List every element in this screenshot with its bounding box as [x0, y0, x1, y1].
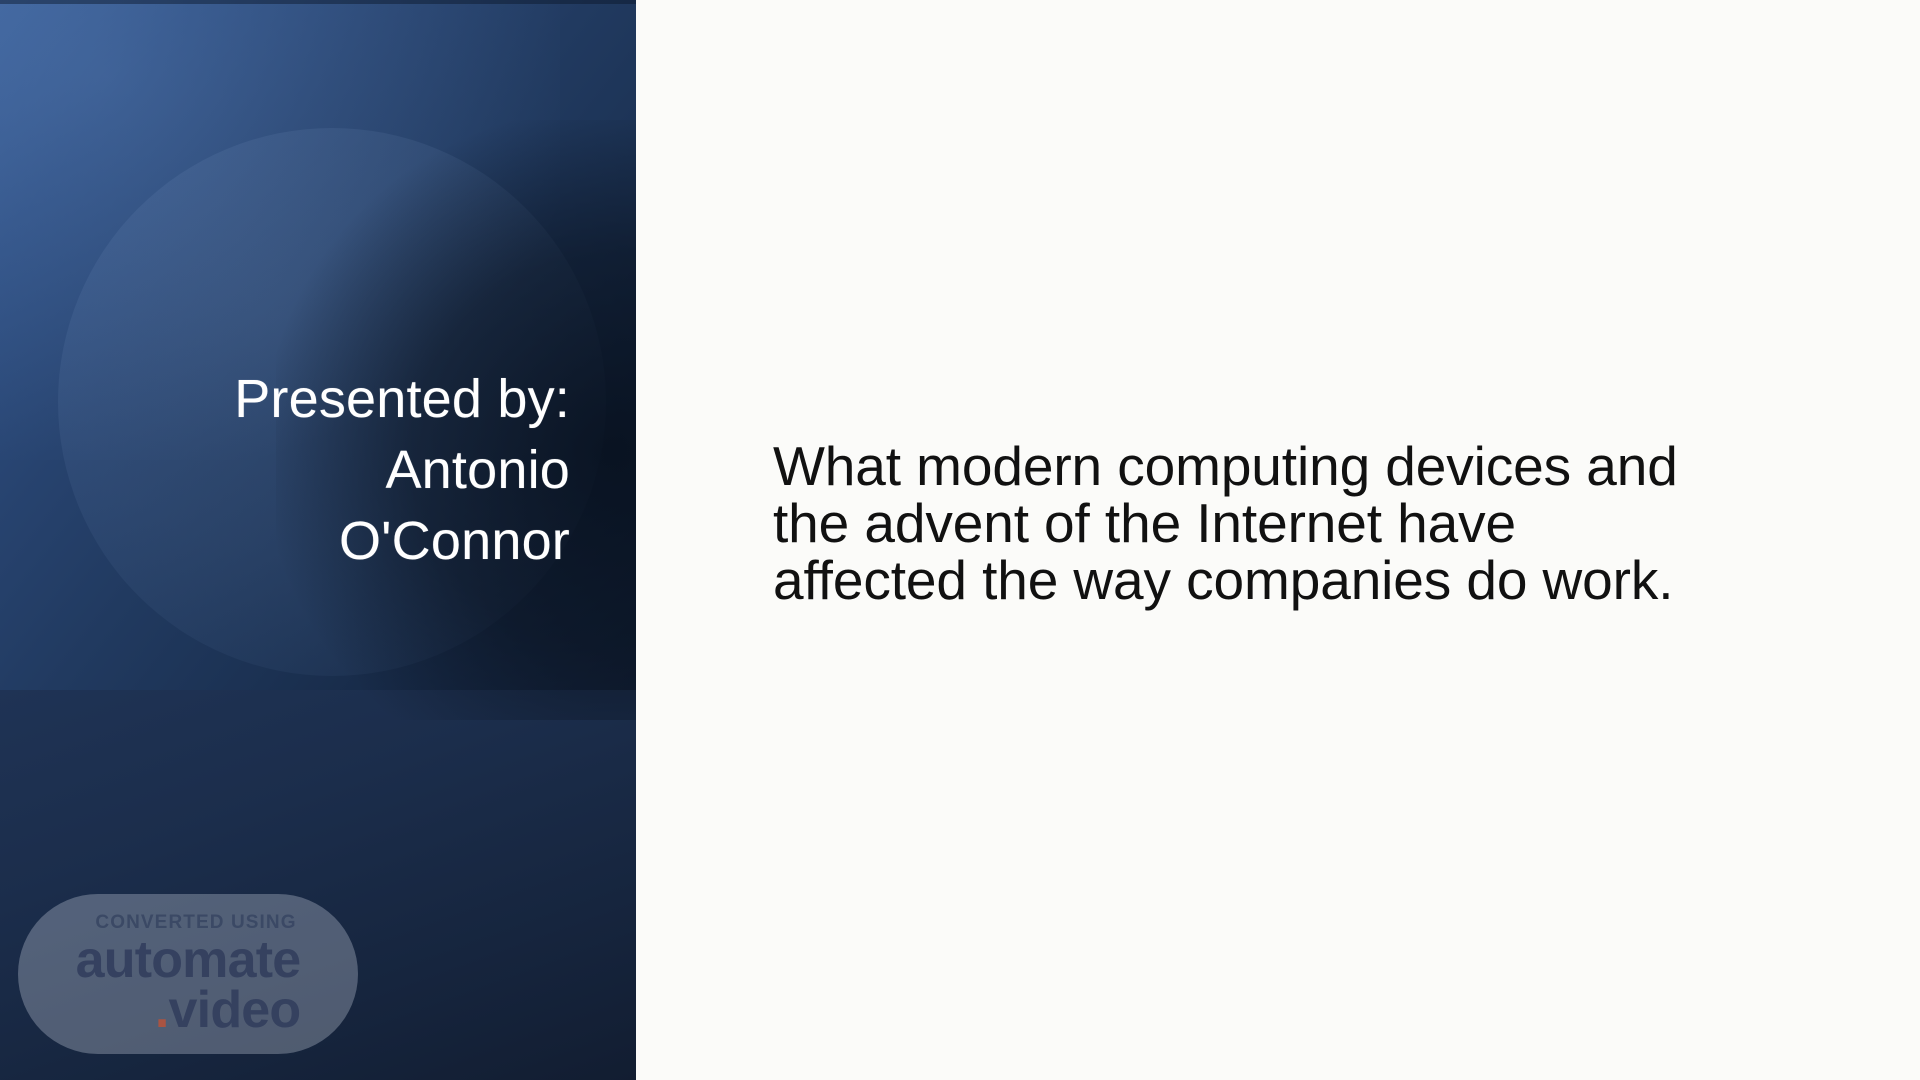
- watermark-brand-video: .video: [155, 987, 300, 1035]
- presenter-last-name: O'Connor: [40, 506, 570, 577]
- presenter-first-name: Antonio: [40, 435, 570, 506]
- watermark-brand-video-label: video: [169, 981, 301, 1039]
- presenter-label: Presented by:: [40, 364, 570, 435]
- automate-video-watermark-badge[interactable]: CONVERTED USING automate .video: [18, 894, 358, 1054]
- watermark-brand-dot: .: [155, 981, 169, 1039]
- left-title-panel: Presented by: Antonio O'Connor CONVERTED…: [0, 0, 636, 1080]
- presenter-credit: Presented by: Antonio O'Connor: [40, 364, 570, 577]
- presentation-slide: Presented by: Antonio O'Connor CONVERTED…: [0, 0, 1920, 1080]
- watermark-brand-automate: automate: [76, 937, 301, 985]
- body-line-3: affected the way companies do work.: [773, 552, 1793, 609]
- watermark-kicker-text: CONVERTED USING: [79, 913, 296, 932]
- panel-top-edge-strip: [0, 0, 636, 4]
- body-line-2: the advent of the Internet have: [773, 495, 1793, 552]
- right-content-panel: What modern computing devices and the ad…: [636, 0, 1920, 1080]
- body-line-1: What modern computing devices and: [773, 438, 1793, 495]
- watermark-wordmark: automate .video: [76, 937, 301, 1035]
- slide-body-text: What modern computing devices and the ad…: [773, 438, 1793, 609]
